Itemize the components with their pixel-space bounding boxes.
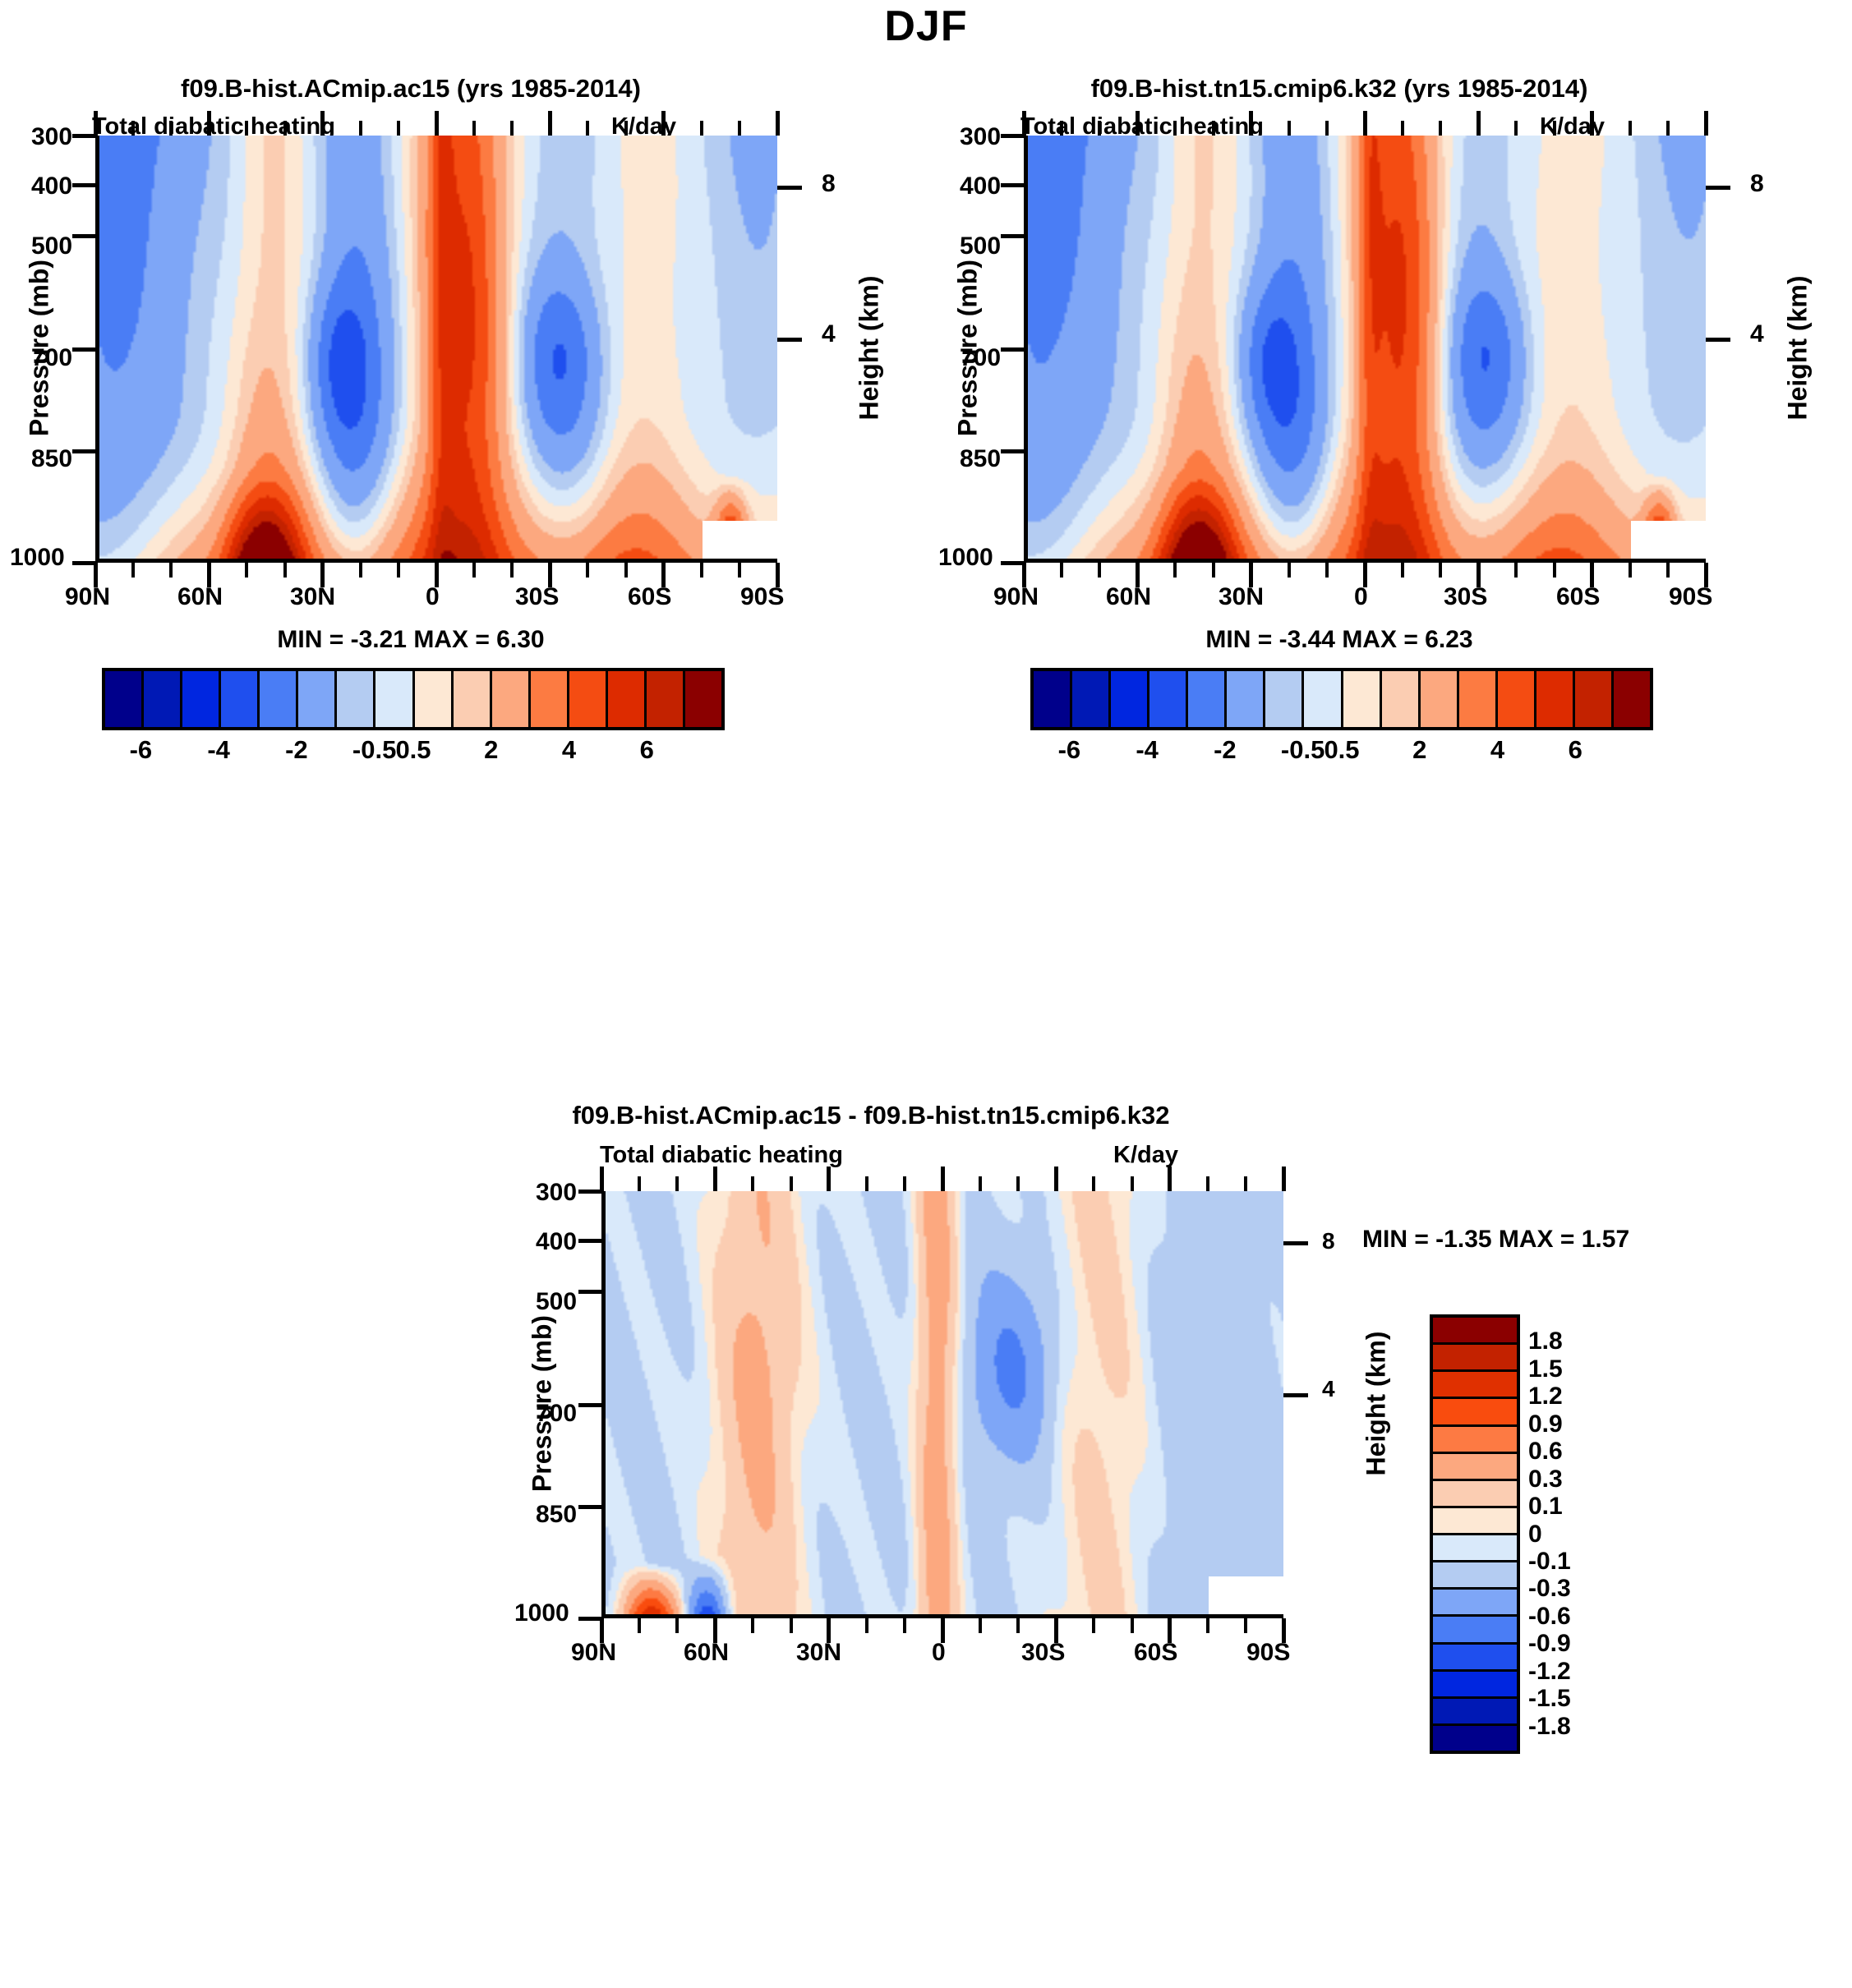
panel-b-colorbar[interactable]: [1030, 668, 1653, 730]
xtick-minor: [283, 563, 287, 578]
ytick-major-3: [578, 1403, 603, 1407]
panel-c-xtick-60S: 60S: [1134, 1639, 1177, 1667]
panel-b-xtick-30N: 30N: [1219, 583, 1264, 611]
xtick-top-minor: [624, 121, 628, 136]
colorbar-cell-3: [1433, 1399, 1517, 1426]
xtick-top-minor: [1439, 121, 1442, 136]
colorbar-tick-label: 6: [1569, 735, 1582, 765]
panel-b-xtick-60N: 60N: [1106, 583, 1151, 611]
xtick-minor: [397, 563, 400, 578]
panel-b-ytick-1000: 1000: [938, 544, 993, 572]
xtick-major-2: [827, 1618, 831, 1643]
panel-c-y2-axis-title: Height (km): [1361, 1297, 1392, 1511]
panel-b-y-axis-title: Pressure (mb): [953, 242, 984, 455]
colorbar-tick-label: 0.3: [1528, 1466, 1563, 1493]
panel-c-ytick-300: 300: [536, 1179, 577, 1207]
xtick-minor: [1439, 563, 1442, 578]
panel-a-ytick-1000: 1000: [10, 544, 65, 572]
colorbar-tick-label: 0.6: [1528, 1438, 1563, 1466]
xtick-top-major-3: [1363, 111, 1367, 136]
colorbar-cell-14: [647, 671, 685, 727]
xtick-top-minor: [510, 121, 514, 136]
xtick-top-minor: [359, 121, 362, 136]
panel-c-ytick-1000: 1000: [514, 1599, 569, 1627]
colorbar-tick-label: -0.9: [1528, 1630, 1571, 1658]
xtick-minor: [675, 1618, 679, 1633]
y2tick-major-0: [1706, 186, 1730, 190]
colorbar-tick-label: -1.2: [1528, 1658, 1571, 1686]
panel-a-xtick-0: 0: [426, 583, 440, 611]
xtick-major-3: [1363, 563, 1367, 587]
panel-a-contour-field: [99, 136, 777, 559]
panel-c-y-axis-title: Pressure (mb): [527, 1297, 558, 1511]
xtick-top-minor: [1629, 121, 1632, 136]
panel-b-colorbar-labels: -6-4-2-0.50.5246: [1030, 735, 1653, 768]
colorbar-cell-6: [1433, 1481, 1517, 1508]
xtick-top-minor: [790, 1176, 793, 1191]
y2tick-major-0: [777, 186, 802, 190]
colorbar-cell-13: [1536, 671, 1575, 727]
panel-b-y2tick-4: 4: [1750, 320, 1764, 348]
colorbar-tick-label: 0.5: [1324, 735, 1359, 765]
xtick-major-0: [1022, 563, 1026, 587]
panel-a-xtick-60S: 60S: [628, 583, 671, 611]
xtick-major-4: [1477, 563, 1481, 587]
xtick-minor: [700, 563, 703, 578]
xtick-major-1: [713, 1618, 717, 1643]
xtick-minor: [1212, 563, 1215, 578]
panel-b-contour-field: [1028, 136, 1706, 559]
xtick-major-0: [600, 1618, 604, 1643]
panel-a-colorbar-labels: -6-4-2-0.50.5246: [102, 735, 725, 768]
xtick-minor: [169, 563, 173, 578]
colorbar-cell-8: [1343, 671, 1382, 727]
xtick-top-minor: [751, 1176, 754, 1191]
xtick-minor: [1401, 563, 1404, 578]
xtick-minor: [1206, 1618, 1209, 1633]
panel-a-y2tick-8: 8: [822, 170, 836, 198]
xtick-top-major-6: [776, 111, 780, 136]
xtick-minor: [245, 563, 248, 578]
xtick-top-major-4: [548, 111, 552, 136]
panel-c-xtick-30S: 30S: [1021, 1639, 1065, 1667]
colorbar-cell-15: [1433, 1726, 1517, 1751]
colorbar-cell-12: [569, 671, 608, 727]
xtick-top-minor: [1016, 1176, 1020, 1191]
xtick-top-minor: [1666, 121, 1670, 136]
xtick-major-6: [1282, 1618, 1286, 1643]
colorbar-tick-label: 0.9: [1528, 1410, 1563, 1438]
xtick-top-major-3: [941, 1167, 945, 1191]
xtick-major-5: [1590, 563, 1594, 587]
colorbar-cell-7: [375, 671, 414, 727]
xtick-minor: [359, 563, 362, 578]
xtick-minor: [903, 1618, 906, 1633]
panel-b-minmax: MIN = -3.44 MAX = 6.23: [928, 626, 1750, 654]
panel-c-ytick-400: 400: [536, 1228, 577, 1256]
colorbar-cell-4: [1188, 671, 1227, 727]
xtick-top-minor: [1092, 1176, 1095, 1191]
colorbar-cell-13: [608, 671, 647, 727]
panel-b-xtick-30S: 30S: [1444, 583, 1487, 611]
y2tick-major-1: [1283, 1393, 1308, 1397]
xtick-top-major-2: [320, 111, 325, 136]
panel-c-units-label: K/day: [1113, 1142, 1178, 1169]
panel-a-xtick-90S: 90S: [740, 583, 784, 611]
xtick-minor: [1098, 563, 1101, 578]
terrain-mask: [1209, 1576, 1283, 1614]
colorbar-tick-label: -6: [130, 735, 153, 765]
xtick-minor: [751, 1618, 754, 1633]
panel-a-y-axis-title: Pressure (mb): [25, 242, 55, 455]
panel-a-ytick-300: 300: [31, 123, 72, 151]
xtick-major-1: [1136, 563, 1140, 587]
xtick-minor: [624, 563, 628, 578]
xtick-top-major-4: [1054, 1167, 1058, 1191]
colorbar-cell-11: [531, 671, 569, 727]
colorbar-tick-label: -2: [285, 735, 308, 765]
xtick-top-minor: [700, 121, 703, 136]
xtick-major-3: [941, 1618, 945, 1643]
colorbar-cell-9: [454, 671, 492, 727]
colorbar-tick-label: 2: [1412, 735, 1426, 765]
xtick-top-minor: [1325, 121, 1329, 136]
panel-c-colorbar-labels: 1.81.51.20.90.60.30.10-0.1-0.3-0.6-0.9-1…: [1528, 1314, 1676, 1747]
ytick-major-3: [72, 347, 97, 352]
xtick-top-major-0: [1022, 111, 1026, 136]
panel-c-y2tick-4: 4: [1322, 1376, 1335, 1402]
xtick-top-minor: [675, 1176, 679, 1191]
colorbar-tick-label: -0.3: [1528, 1575, 1571, 1603]
colorbar-cell-1: [1433, 1345, 1517, 1372]
colorbar-tick-label: -0.5: [352, 735, 396, 765]
xtick-top-minor: [1401, 121, 1404, 136]
xtick-top-major-2: [827, 1167, 831, 1191]
xtick-minor: [979, 1618, 982, 1633]
xtick-minor: [738, 563, 741, 578]
panel-b-y2-axis-title: Height (km): [1783, 242, 1813, 455]
xtick-top-minor: [903, 1176, 906, 1191]
xtick-top-minor: [865, 1176, 868, 1191]
colorbar-cell-8: [1433, 1535, 1517, 1562]
panel-a-title: f09.B-hist.ACmip.ac15 (yrs 1985-2014): [0, 74, 822, 104]
panel-b-xtick-90N: 90N: [993, 583, 1039, 611]
xtick-top-minor: [1553, 121, 1556, 136]
panel-a-ytick-400: 400: [31, 173, 72, 200]
xtick-top-minor: [586, 121, 589, 136]
colorbar-cell-14: [1575, 671, 1614, 727]
y2tick-major-1: [1706, 338, 1730, 342]
xtick-top-minor: [1288, 121, 1291, 136]
panel-a-y2-axis-title: Height (km): [855, 242, 885, 455]
xtick-minor: [865, 1618, 868, 1633]
colorbar-tick-label: -4: [207, 735, 230, 765]
panel-a-xtick-90N: 90N: [65, 583, 110, 611]
panel-c: f09.B-hist.ACmip.ac15 - f09.B-hist.tn15.…: [460, 1101, 1742, 1988]
xtick-minor: [1514, 563, 1518, 578]
panel-a-minmax: MIN = -3.21 MAX = 6.30: [0, 626, 822, 654]
colorbar-cell-2: [182, 671, 221, 727]
xtick-major-4: [1054, 1618, 1058, 1643]
colorbar-tick-label: 4: [1490, 735, 1504, 765]
panel-c-y2tick-8: 8: [1322, 1228, 1335, 1254]
xtick-minor: [1325, 563, 1329, 578]
ytick-major-2: [72, 234, 97, 238]
xtick-top-major-3: [435, 111, 439, 136]
colorbar-cell-0: [1433, 1318, 1517, 1345]
colorbar-cell-15: [1614, 671, 1650, 727]
colorbar-tick-label: 0.5: [395, 735, 431, 765]
xtick-minor: [1016, 1618, 1020, 1633]
xtick-top-major-5: [1590, 111, 1594, 136]
xtick-top-minor: [1098, 121, 1101, 136]
panel-b-xtick-90S: 90S: [1669, 583, 1712, 611]
panel-c-xtick-90S: 90S: [1246, 1639, 1290, 1667]
ytick-major-2: [1001, 234, 1025, 238]
xtick-top-minor: [979, 1176, 982, 1191]
colorbar-cell-3: [221, 671, 260, 727]
colorbar-cell-11: [1433, 1617, 1517, 1644]
xtick-top-minor: [1206, 1176, 1209, 1191]
xtick-top-minor: [283, 121, 287, 136]
colorbar-cell-3: [1149, 671, 1188, 727]
xtick-top-major-1: [1136, 111, 1140, 136]
colorbar-cell-9: [1433, 1562, 1517, 1590]
xtick-top-major-2: [1249, 111, 1253, 136]
panel-b-title: f09.B-hist.tn15.cmip6.k32 (yrs 1985-2014…: [928, 74, 1750, 104]
panel-a-xtick-30S: 30S: [515, 583, 559, 611]
xtick-minor: [1092, 1618, 1095, 1633]
colorbar-cell-13: [1433, 1672, 1517, 1699]
xtick-top-minor: [131, 121, 135, 136]
xtick-top-major-1: [207, 111, 211, 136]
y2tick-major-1: [777, 338, 802, 342]
panel-a-xtick-60N: 60N: [177, 583, 223, 611]
xtick-minor: [1666, 563, 1670, 578]
colorbar-cell-5: [1227, 671, 1265, 727]
xtick-major-5: [1168, 1618, 1172, 1643]
xtick-minor: [1060, 563, 1063, 578]
ytick-major-4: [1001, 449, 1025, 453]
ytick-major-1: [578, 1239, 603, 1243]
y2tick-major-0: [1283, 1241, 1308, 1245]
xtick-minor: [131, 563, 135, 578]
xtick-minor: [1629, 563, 1632, 578]
panel-a: f09.B-hist.ACmip.ac15 (yrs 1985-2014) To…: [0, 74, 904, 1117]
colorbar-cell-6: [1265, 671, 1304, 727]
panel-b-ytick-300: 300: [960, 123, 1001, 151]
panel-b-xtick-0: 0: [1354, 583, 1368, 611]
xtick-minor: [1173, 563, 1177, 578]
panel-c-plot-area: [601, 1191, 1283, 1618]
colorbar-tick-label: -0.1: [1528, 1548, 1571, 1576]
colorbar-cell-14: [1433, 1699, 1517, 1726]
colorbar-tick-label: 1.2: [1528, 1383, 1563, 1410]
colorbar-cell-5: [1433, 1454, 1517, 1481]
colorbar-tick-label: -0.5: [1281, 735, 1325, 765]
colorbar-cell-10: [492, 671, 531, 727]
xtick-minor: [790, 1618, 793, 1633]
colorbar-tick-label: -2: [1214, 735, 1237, 765]
xtick-top-minor: [1212, 121, 1215, 136]
colorbar-tick-label: 0.1: [1528, 1493, 1563, 1521]
colorbar-cell-5: [298, 671, 337, 727]
xtick-minor: [1553, 563, 1556, 578]
xtick-major-6: [1704, 563, 1708, 587]
colorbar-cell-9: [1382, 671, 1421, 727]
xtick-top-major-1: [713, 1167, 717, 1191]
colorbar-tick-label: 1.8: [1528, 1328, 1563, 1355]
colorbar-cell-2: [1433, 1372, 1517, 1399]
panel-c-xtick-30N: 30N: [796, 1639, 841, 1667]
xtick-major-0: [94, 563, 98, 587]
xtick-top-major-5: [661, 111, 666, 136]
colorbar-tick-label: -1.5: [1528, 1685, 1571, 1713]
colorbar-cell-15: [685, 671, 721, 727]
panel-a-xtick-30N: 30N: [290, 583, 335, 611]
panel-c-xtick-90N: 90N: [571, 1639, 616, 1667]
contour-canvas: [1028, 136, 1706, 559]
ytick-major-4: [72, 449, 97, 453]
xtick-top-major-0: [600, 1167, 604, 1191]
xtick-minor: [472, 563, 476, 578]
xtick-top-major-6: [1704, 111, 1708, 136]
panel-c-xtick-0: 0: [932, 1639, 946, 1667]
xtick-top-major-5: [1168, 1167, 1172, 1191]
panel-a-plot-area: [95, 136, 777, 563]
xtick-top-minor: [638, 1176, 641, 1191]
ytick-major-2: [578, 1290, 603, 1294]
panel-b-xtick-60S: 60S: [1556, 583, 1600, 611]
panel-b-y2tick-8: 8: [1750, 170, 1764, 198]
panel-a-colorbar[interactable]: [102, 668, 725, 730]
xtick-major-2: [320, 563, 325, 587]
colorbar-tick-label: -0.6: [1528, 1603, 1571, 1631]
xtick-minor: [638, 1618, 641, 1633]
terrain-mask: [703, 521, 777, 559]
panel-c-xtick-60N: 60N: [684, 1639, 729, 1667]
colorbar-tick-label: 4: [562, 735, 576, 765]
xtick-major-1: [207, 563, 211, 587]
colorbar-cell-12: [1433, 1645, 1517, 1672]
xtick-major-6: [776, 563, 780, 587]
ytick-major-1: [1001, 183, 1025, 187]
ytick-major-3: [1001, 347, 1025, 352]
colorbar-cell-7: [1304, 671, 1343, 727]
colorbar-tick-label: 2: [484, 735, 498, 765]
panel-c-colorbar[interactable]: [1430, 1314, 1520, 1754]
xtick-top-major-6: [1282, 1167, 1286, 1191]
colorbar-tick-label: 1.5: [1528, 1355, 1563, 1383]
colorbar-tick-label: 0: [1528, 1521, 1542, 1549]
xtick-top-minor: [738, 121, 741, 136]
colorbar-cell-0: [1034, 671, 1072, 727]
colorbar-tick-label: 6: [640, 735, 654, 765]
xtick-top-minor: [245, 121, 248, 136]
panel-a-y2tick-4: 4: [822, 320, 836, 348]
colorbar-cell-12: [1498, 671, 1536, 727]
xtick-top-minor: [1173, 121, 1177, 136]
xtick-minor: [1288, 563, 1291, 578]
colorbar-cell-1: [144, 671, 182, 727]
xtick-minor: [510, 563, 514, 578]
ytick-major-4: [578, 1505, 603, 1509]
panel-c-minmax: MIN = -1.35 MAX = 1.57: [1362, 1226, 1629, 1254]
panel-b-plot-area: [1024, 136, 1706, 563]
colorbar-cell-2: [1111, 671, 1149, 727]
colorbar-cell-4: [1433, 1427, 1517, 1454]
panel-c-variable-label: Total diabatic heating: [600, 1142, 843, 1169]
colorbar-cell-11: [1459, 671, 1498, 727]
colorbar-tick-label: -4: [1136, 735, 1159, 765]
xtick-top-minor: [397, 121, 400, 136]
colorbar-cell-8: [415, 671, 454, 727]
xtick-top-major-0: [94, 111, 98, 136]
colorbar-cell-0: [105, 671, 144, 727]
colorbar-cell-10: [1433, 1590, 1517, 1617]
panel-b-ytick-400: 400: [960, 173, 1001, 200]
xtick-major-5: [661, 563, 666, 587]
colorbar-cell-1: [1072, 671, 1111, 727]
xtick-top-minor: [169, 121, 173, 136]
contour-canvas: [99, 136, 777, 559]
colorbar-cell-4: [260, 671, 298, 727]
colorbar-cell-7: [1433, 1508, 1517, 1535]
xtick-top-minor: [472, 121, 476, 136]
figure-title: DJF: [0, 2, 1852, 51]
xtick-top-major-4: [1477, 111, 1481, 136]
xtick-top-minor: [1131, 1176, 1134, 1191]
xtick-top-minor: [1514, 121, 1518, 136]
panel-c-contour-field: [606, 1191, 1283, 1614]
xtick-major-2: [1249, 563, 1253, 587]
xtick-major-4: [548, 563, 552, 587]
xtick-top-minor: [1244, 1176, 1247, 1191]
colorbar-cell-6: [337, 671, 375, 727]
colorbar-cell-10: [1421, 671, 1459, 727]
panel-b: f09.B-hist.tn15.cmip6.k32 (yrs 1985-2014…: [928, 74, 1852, 1117]
panel-c-title: f09.B-hist.ACmip.ac15 - f09.B-hist.tn15.…: [362, 1101, 1380, 1130]
xtick-major-3: [435, 563, 439, 587]
colorbar-tick-label: -6: [1058, 735, 1081, 765]
contour-canvas: [606, 1191, 1283, 1614]
xtick-minor: [1131, 1618, 1134, 1633]
xtick-minor: [1244, 1618, 1247, 1633]
ytick-major-1: [72, 183, 97, 187]
xtick-top-minor: [1060, 121, 1063, 136]
terrain-mask: [1631, 521, 1706, 559]
xtick-minor: [586, 563, 589, 578]
colorbar-tick-label: -1.8: [1528, 1713, 1571, 1741]
